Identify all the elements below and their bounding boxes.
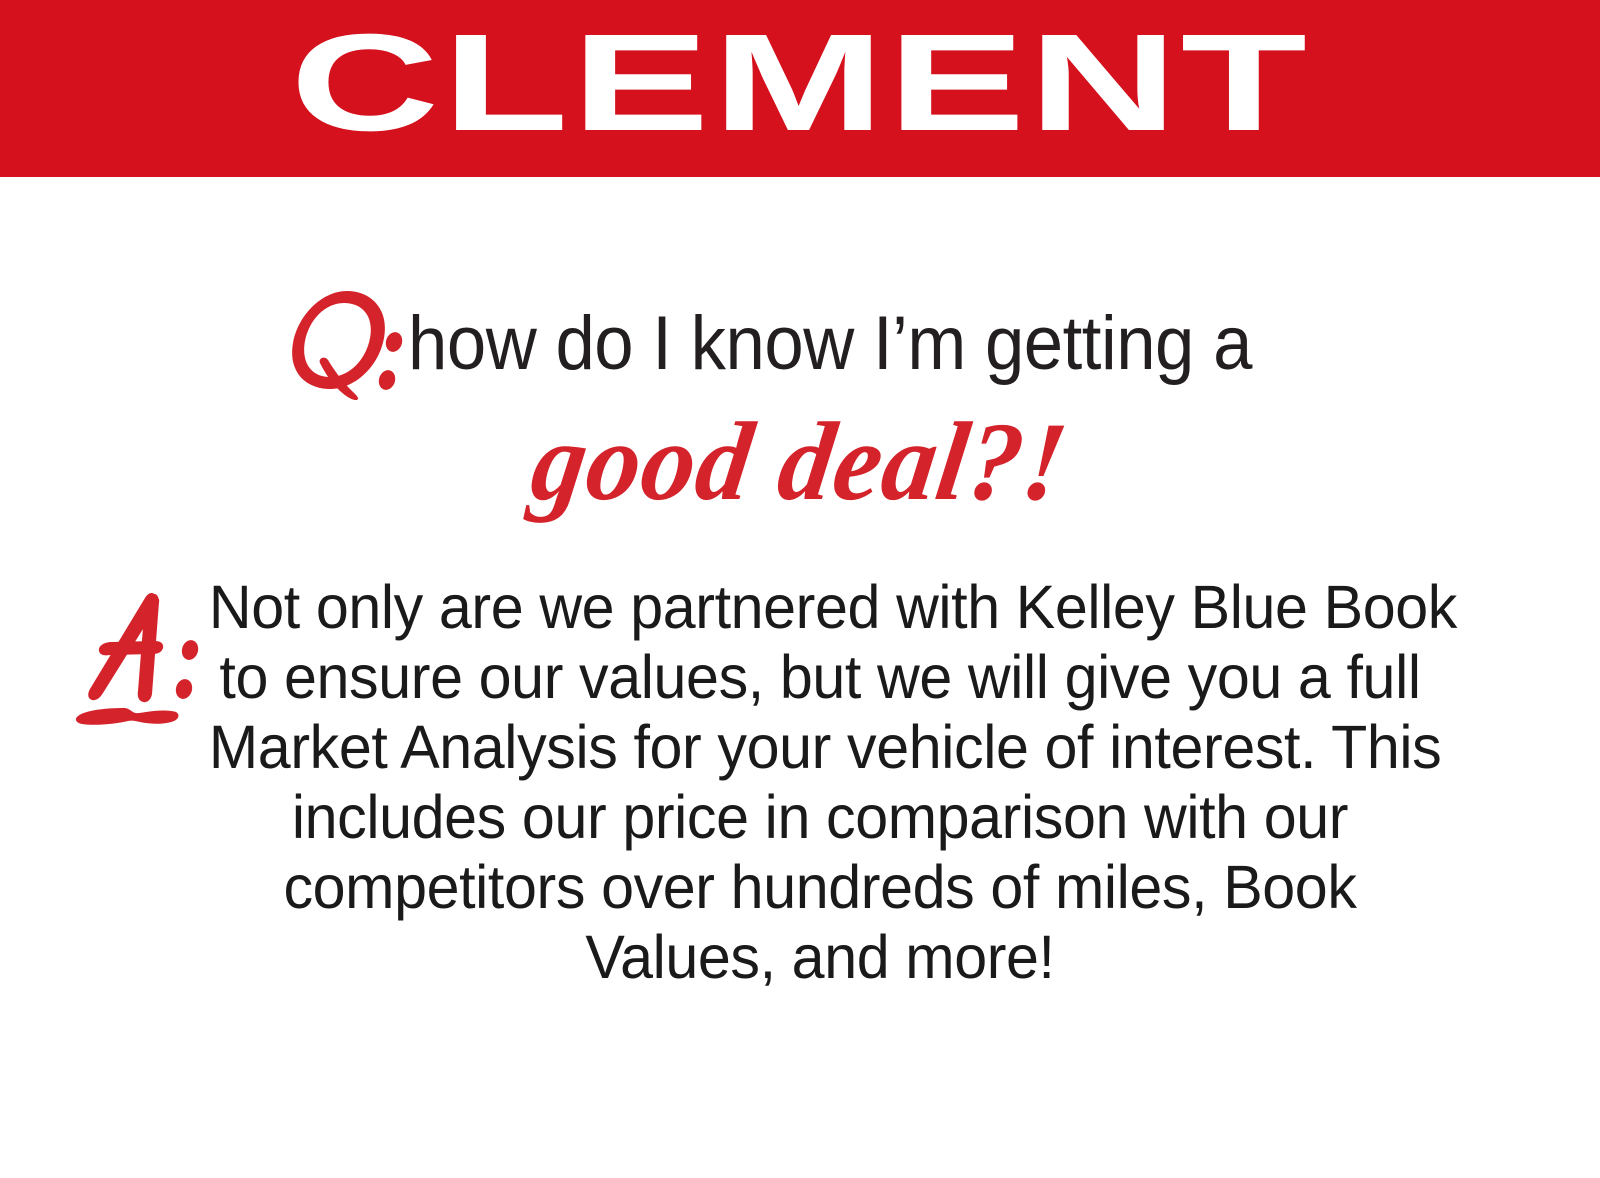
qa-card: CLEMENT how do I know I’m getting a good… <box>0 0 1600 1178</box>
question-line-1: how do I know I’m getting a <box>0 286 1600 396</box>
answer-text: Not only are we partnered with Kelley Bl… <box>190 572 1450 992</box>
question-emphasis-text: good deal?! <box>524 398 1075 527</box>
question-text: how do I know I’m getting a <box>408 306 1252 396</box>
clement-logo: CLEMENT <box>285 26 1315 152</box>
answer-line: Not only are we partnered with Kelley Bl… <box>209 572 1431 642</box>
answer-line: includes our price in comparison with ou… <box>209 782 1431 852</box>
header-band: CLEMENT <box>0 0 1600 177</box>
answer-line: to ensure our values, but we will give y… <box>209 642 1431 712</box>
answer-line: competitors over hundreds of miles, Book <box>209 852 1431 922</box>
clement-logo-text: CLEMENT <box>290 26 1310 152</box>
question-line-2: good deal?! <box>0 398 1600 548</box>
question-marker-q-icon <box>284 288 406 400</box>
answer-line: Market Analysis for your vehicle of inte… <box>209 712 1431 782</box>
answer-line: Values, and more! <box>209 922 1431 992</box>
